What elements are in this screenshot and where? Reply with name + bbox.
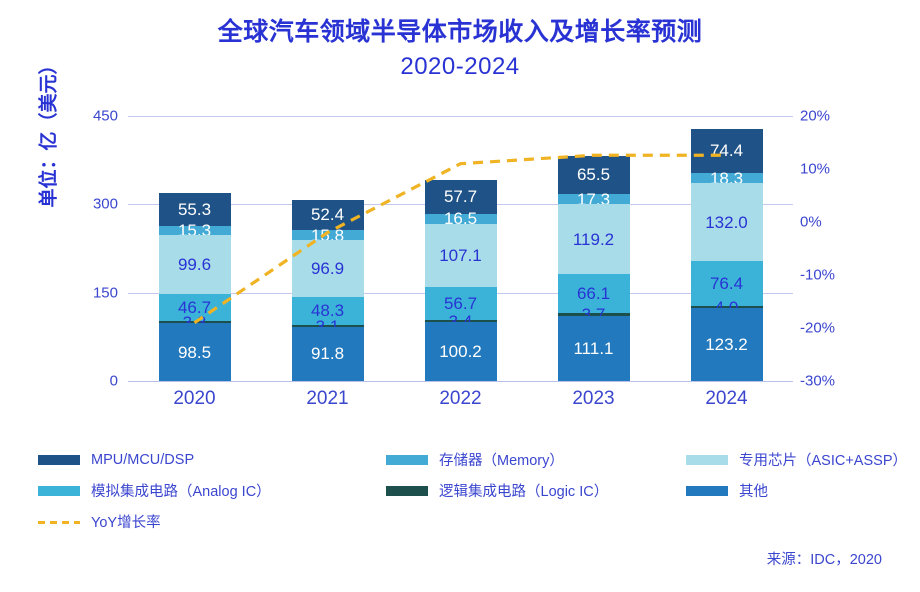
y2-axis-tick-label: -30% bbox=[800, 373, 860, 390]
bar-segment[interactable]: 99.6 bbox=[159, 235, 231, 294]
bar-segment[interactable]: 91.8 bbox=[292, 327, 364, 381]
y2-axis-tick-label: 0% bbox=[800, 214, 860, 231]
bar-segment-value: 52.4 bbox=[311, 206, 344, 223]
bar-segment[interactable]: 98.5 bbox=[159, 323, 231, 381]
bar-segment-value: 132.0 bbox=[705, 214, 748, 231]
y-axis-tick-label: 0 bbox=[72, 373, 118, 390]
bar-segment-value: 55.3 bbox=[178, 201, 211, 218]
legend-swatch bbox=[686, 486, 728, 496]
bar-segment[interactable]: 132.0 bbox=[691, 183, 763, 261]
bar-segment-value: 119.2 bbox=[573, 231, 614, 248]
x-axis-tick-label: 2020 bbox=[140, 388, 250, 410]
bar-segment[interactable]: 96.9 bbox=[292, 240, 364, 297]
bar-segment-value: 57.7 bbox=[444, 188, 477, 205]
y2-axis-tick-label: 10% bbox=[800, 161, 860, 178]
bar-segment[interactable]: 74.4 bbox=[691, 129, 763, 173]
y2-axis-tick-label: -10% bbox=[800, 267, 860, 284]
bar-group[interactable]: 74.418.3132.076.44.0123.2 bbox=[691, 129, 763, 381]
x-axis-tick-label: 2021 bbox=[273, 388, 383, 410]
bar-segment[interactable]: 16.5 bbox=[425, 214, 497, 224]
bar-segment-value: 91.8 bbox=[311, 345, 344, 362]
source-note: 来源：IDC，2020 bbox=[767, 548, 882, 569]
chart-root: 全球汽车领域半导体市场收入及增长率预测 2020-2024 单位：亿（美元） 4… bbox=[0, 0, 920, 592]
x-axis-tick-label: 2024 bbox=[672, 388, 782, 410]
y2-axis-tick-label: 20% bbox=[800, 108, 860, 125]
y-axis-tick-label: 450 bbox=[72, 108, 118, 125]
bar-segment-value: 66.1 bbox=[577, 285, 610, 302]
legend-swatch bbox=[386, 455, 428, 465]
bar-segment[interactable]: 17.3 bbox=[558, 194, 630, 204]
bar-segment[interactable]: 119.2 bbox=[558, 204, 630, 274]
bar-segment-value: 111.1 bbox=[573, 340, 613, 357]
bar-series-container: 55.315.399.646.73.398.552.415.896.948.33… bbox=[128, 116, 793, 381]
legend-label: 专用芯片（ASIC+ASSP） bbox=[739, 449, 907, 470]
x-axis-tick-label: 2023 bbox=[539, 388, 649, 410]
bar-segment-value: 123.2 bbox=[705, 336, 748, 353]
legend-label: 存储器（Memory） bbox=[439, 449, 564, 470]
legend-swatch bbox=[386, 486, 428, 496]
page-title: 全球汽车领域半导体市场收入及增长率预测 bbox=[0, 16, 920, 50]
legend-swatch bbox=[38, 486, 80, 496]
y-axis-tick-label: 300 bbox=[72, 196, 118, 213]
legend-item[interactable]: 存储器（Memory） bbox=[386, 444, 686, 475]
bar-segment-value: 107.1 bbox=[439, 247, 482, 264]
bar-segment-value: 65.5 bbox=[577, 166, 610, 183]
legend-label: MPU/MCU/DSP bbox=[91, 452, 194, 468]
gridline bbox=[128, 381, 793, 382]
bar-segment-value: 76.4 bbox=[710, 275, 743, 292]
legend-item-yoy[interactable]: YoY增长率 bbox=[38, 506, 386, 537]
legend-label: YoY增长率 bbox=[91, 511, 161, 532]
bar-segment[interactable]: 111.1 bbox=[558, 316, 630, 381]
bar-group[interactable]: 52.415.896.948.33.191.8 bbox=[292, 200, 364, 382]
bar-group[interactable]: 57.716.5107.156.73.4100.2 bbox=[425, 180, 497, 381]
bar-segment[interactable]: 65.5 bbox=[558, 156, 630, 195]
bar-group[interactable]: 65.517.3119.266.13.7111.1 bbox=[558, 156, 630, 381]
legend-item[interactable]: 专用芯片（ASIC+ASSP） bbox=[686, 444, 898, 475]
bar-segment[interactable]: 123.2 bbox=[691, 308, 763, 381]
bar-segment[interactable]: 15.3 bbox=[159, 226, 231, 235]
legend-item[interactable]: 逻辑集成电路（Logic IC） bbox=[386, 475, 686, 506]
y-axis-unit-label: 单位：亿（美元） bbox=[34, 17, 61, 247]
legend-item[interactable]: 其他 bbox=[686, 475, 898, 506]
legend-row: MPU/MCU/DSP存储器（Memory）专用芯片（ASIC+ASSP） bbox=[38, 444, 898, 475]
legend-swatch bbox=[38, 455, 80, 465]
bar-segment[interactable]: 15.8 bbox=[292, 230, 364, 239]
bar-segment-value: 98.5 bbox=[178, 344, 211, 361]
legend-row: YoY增长率 bbox=[38, 506, 898, 537]
bar-segment-value: 56.7 bbox=[444, 295, 477, 312]
y-axis-left: 4503001500 bbox=[66, 116, 118, 381]
chart-title-block: 全球汽车领域半导体市场收入及增长率预测 2020-2024 bbox=[0, 16, 920, 85]
plot-area: 55.315.399.646.73.398.552.415.896.948.33… bbox=[128, 116, 793, 381]
legend-item[interactable]: MPU/MCU/DSP bbox=[38, 444, 386, 475]
y-axis-tick-label: 150 bbox=[72, 284, 118, 301]
chart-subtitle: 2020-2024 bbox=[0, 50, 920, 85]
bar-segment[interactable]: 18.3 bbox=[691, 173, 763, 184]
y2-axis-tick-label: -20% bbox=[800, 320, 860, 337]
legend-swatch bbox=[686, 455, 728, 465]
chart-legend: MPU/MCU/DSP存储器（Memory）专用芯片（ASIC+ASSP）模拟集… bbox=[38, 444, 898, 537]
bar-segment[interactable]: 100.2 bbox=[425, 322, 497, 381]
legend-label: 其他 bbox=[739, 480, 768, 501]
y-axis-right: 20%10%0%-10%-20%-30% bbox=[800, 116, 870, 381]
legend-label: 模拟集成电路（Analog IC） bbox=[91, 480, 271, 501]
x-axis-tick-label: 2022 bbox=[406, 388, 516, 410]
legend-item[interactable]: 模拟集成电路（Analog IC） bbox=[38, 475, 386, 506]
legend-label: 逻辑集成电路（Logic IC） bbox=[439, 480, 608, 501]
bar-segment[interactable]: 107.1 bbox=[425, 224, 497, 287]
bar-segment-value: 96.9 bbox=[311, 260, 344, 277]
bar-group[interactable]: 55.315.399.646.73.398.5 bbox=[159, 193, 231, 381]
bar-segment-value: 99.6 bbox=[178, 256, 211, 273]
bar-segment-value: 74.4 bbox=[710, 142, 743, 159]
legend-dashed-line-swatch bbox=[38, 517, 80, 527]
legend-row: 模拟集成电路（Analog IC）逻辑集成电路（Logic IC）其他 bbox=[38, 475, 898, 506]
bar-segment-value: 100.2 bbox=[439, 343, 482, 360]
